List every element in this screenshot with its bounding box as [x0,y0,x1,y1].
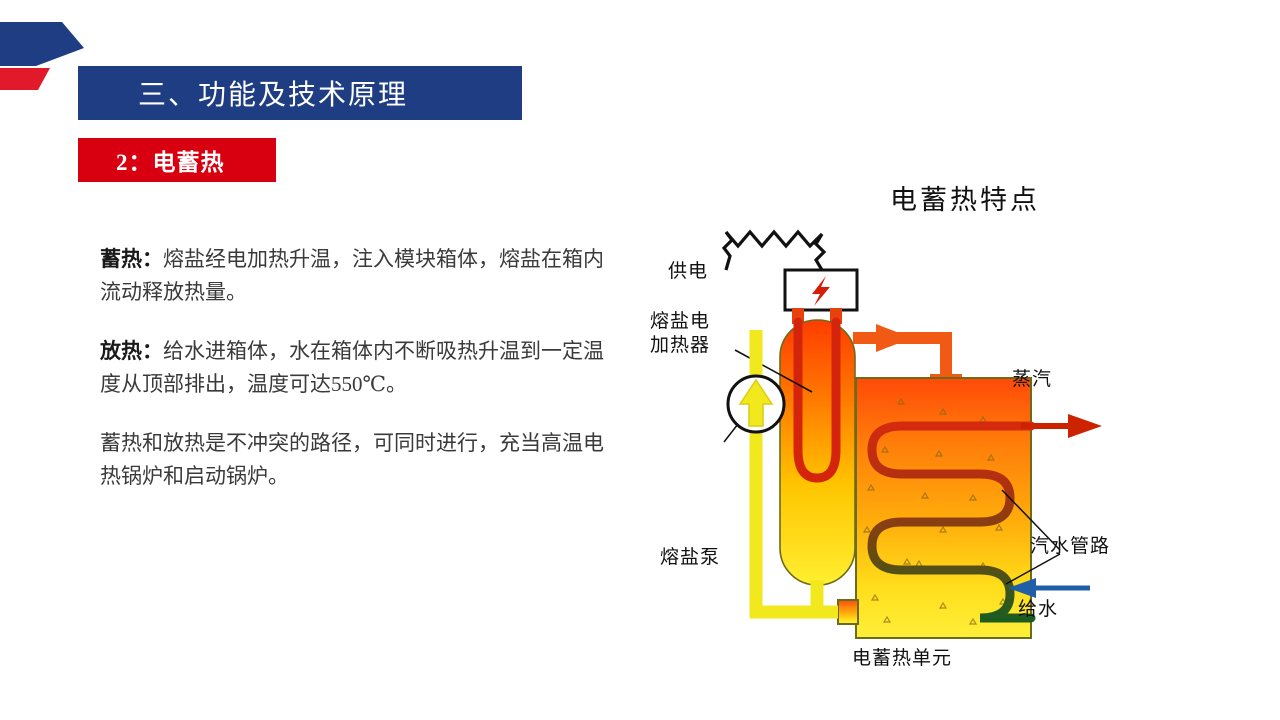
paragraph-summary: 蓄热和放热是不冲突的路径，可同时进行，充当高温电热锅炉和启动锅炉。 [100,427,620,493]
label-storage-unit: 电蓄热单元 [852,647,952,671]
hot-salt-flow-arrow [876,324,912,352]
label-steam: 蒸汽 [1012,368,1052,392]
paragraph-storage-text: 熔盐经电加热升温，注入模块箱体，熔盐在箱内流动释放热量。 [100,247,604,304]
pump-leader-line [724,424,738,442]
label-steam-water-pipe: 汽水管路 [1030,535,1110,559]
label-feedwater: 给水 [1018,598,1058,622]
subsection-badge-text: 2：电蓄热 [78,143,225,177]
paragraph-summary-text: 蓄热和放热是不冲突的路径，可同时进行，充当高温电热锅炉和启动锅炉。 [100,431,604,488]
heat-storage-tank [838,378,1031,638]
heat-storage-diagram: 电蓄热特点 [640,160,1270,705]
label-salt-heater-line1: 熔盐电 [650,310,710,334]
section-title-bar: 三、功能及技术原理 [78,66,522,120]
paragraph-release-lead: 放热： [100,339,163,363]
salt-pump [728,376,784,432]
paragraph-release-text: 给水进箱体，水在箱体内不断吸热升温到一定温度从顶部排出，温度可达550℃。 [100,339,604,396]
body-copy: 蓄热：熔盐经电加热升温，注入模块箱体，熔盐在箱内流动释放热量。 放热：给水进箱体… [100,243,620,519]
steam-outlet-arrow [1021,414,1102,438]
slide-canvas: 三、功能及技术原理 2：电蓄热 蓄热：熔盐经电加热升温，注入模块箱体，熔盐在箱内… [0,0,1280,720]
label-salt-heater: 熔盐电 加热器 [650,310,710,358]
corner-decoration [0,22,84,90]
label-power-supply: 供电 [668,260,708,284]
paragraph-storage-lead: 蓄热： [100,247,163,271]
label-salt-pump: 熔盐泵 [660,546,720,570]
zigzag-power-line-icon [724,232,824,270]
paragraph-release: 放热：给水进箱体，水在箱体内不断吸热升温到一定温度从顶部排出，温度可达550℃。 [100,335,620,401]
corner-decoration-shape [0,22,84,90]
corner-red-band [0,68,50,90]
paragraph-storage: 蓄热：熔盐经电加热升温，注入模块箱体，熔盐在箱内流动释放热量。 [100,243,620,309]
section-title-text: 三、功能及技术原理 [78,73,408,113]
subsection-badge: 2：电蓄热 [78,138,276,182]
molten-salt-heater-vessel [780,320,855,585]
heater-control-box [785,270,857,310]
label-salt-heater-line2: 加热器 [650,334,710,358]
diagram-graphic [640,160,1270,705]
